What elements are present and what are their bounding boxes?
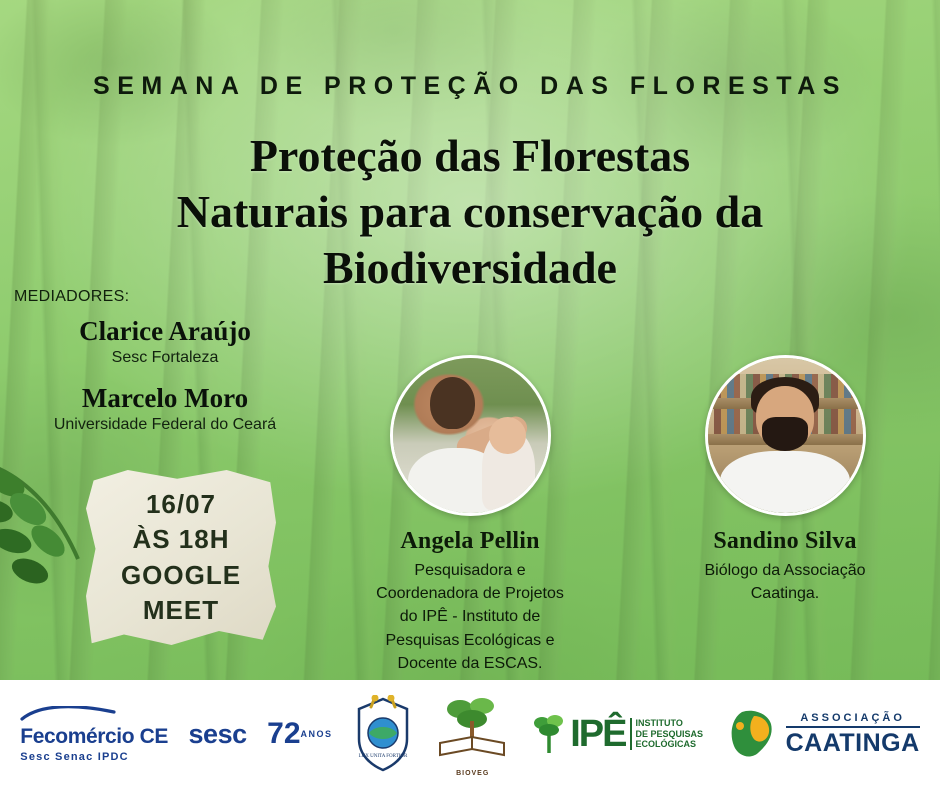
bioveg-caption: BIOVEG (434, 770, 512, 777)
ipe-wordmark: IPÊ (570, 713, 625, 756)
speaker-2-role: Biólogo da Associação Caatinga. (655, 559, 915, 605)
woman-with-child-photo (393, 358, 548, 513)
caatinga-wordmark: CAATINGA (786, 731, 920, 756)
title-line-2: Naturais para conservação da (20, 184, 920, 240)
speaker-2-name: Sandino Silva (655, 528, 915, 555)
speaker-1-role: Pesquisadora e Coordenadora de Projetos … (340, 559, 600, 675)
speaker-1-name: Angela Pellin (340, 528, 600, 555)
mediator-name-1: Clarice Araújo (0, 316, 330, 347)
fecomercio-name: Fecomércio CE (20, 726, 168, 747)
event-poster: SEMANA DE PROTEÇÃO DAS FLORESTAS Proteçã… (0, 0, 940, 788)
ufc-motto: LUX UNITA FORTIOR (359, 754, 408, 759)
poster-kicker: SEMANA DE PROTEÇÃO DAS FLORESTAS (0, 72, 940, 101)
logo-ipe: IPÊ INSTITUTO DE PESQUISAS ECOLÓGICAS (532, 713, 703, 756)
mediator-org-2: Universidade Federal do Ceará (0, 416, 330, 434)
ipe-subtitle: INSTITUTO DE PESQUISAS ECOLÓGICAS (630, 718, 704, 749)
logo-72-label: ANOS (301, 730, 333, 739)
logo-fecomercio: Fecomércio CE Sesc Senac IPDC (20, 706, 168, 763)
logo-bioveg: BIOVEG (434, 691, 512, 777)
speaker-1-avatar (390, 355, 551, 516)
bioveg-tree-book-icon (434, 691, 512, 763)
ufc-crest-icon: LUX UNITA FORTIOR (353, 695, 413, 773)
speaker-card-1: Angela Pellin Pesquisadora e Coordenador… (340, 355, 600, 675)
caatinga-brazil-map-icon (724, 706, 780, 762)
title-line-1: Proteção das Florestas (20, 128, 920, 184)
logo-sesc: sesc (189, 719, 247, 750)
caatinga-associacao-text: ASSOCIAÇÃO (786, 713, 920, 728)
speaker-2-avatar (705, 355, 866, 516)
mediator-block-2: Marcelo Moro Universidade Federal do Cea… (0, 383, 330, 434)
logo-72-anos: 72 ANOS (267, 719, 332, 749)
fecomercio-subbrands: Sesc Senac IPDC (20, 752, 168, 763)
date-badge-text: 16/07 ÀS 18H GOOGLE MEET (86, 470, 276, 645)
mediators-label: MEDIADORES: (14, 288, 330, 306)
footer-logo-bar: Fecomércio CE Sesc Senac IPDC sesc 72 AN… (0, 680, 940, 788)
mediator-name-2: Marcelo Moro (0, 383, 330, 414)
ipe-tree-icon (532, 713, 566, 755)
mediators-block: MEDIADORES: Clarice Araújo Sesc Fortalez… (0, 288, 330, 434)
mediator-org-1: Sesc Fortaleza (0, 349, 330, 367)
date-badge: 16/07 ÀS 18H GOOGLE MEET (86, 470, 276, 645)
logo-ufc: LUX UNITA FORTIOR (353, 695, 413, 773)
logo-associacao-caatinga: ASSOCIAÇÃO CAATINGA (724, 706, 920, 762)
logo-72-number: 72 (267, 719, 300, 749)
man-in-front-of-bookshelf-photo (708, 358, 863, 513)
fecomercio-swoosh-icon (20, 706, 116, 722)
speaker-card-2: Sandino Silva Biólogo da Associação Caat… (655, 355, 915, 605)
page-title: Proteção das Florestas Naturais para con… (20, 128, 920, 296)
